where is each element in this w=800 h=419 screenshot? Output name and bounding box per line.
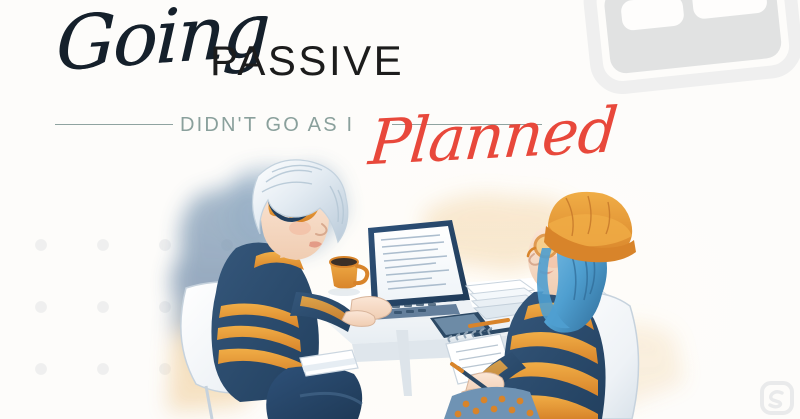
headline-main-word: PASSIVE <box>210 40 404 82</box>
legs-right-polkadot <box>444 387 540 419</box>
headline-subtitle: DIDN'T GO AS I <box>180 112 354 138</box>
divider-rule-left <box>55 124 173 125</box>
poster-canvas: Going PASSIVE DIDN'T GO AS I Planned <box>0 0 800 419</box>
bottom-right-logo-icon <box>760 381 794 415</box>
orange-beanie <box>544 192 636 262</box>
headline-accent-script-word: Planned <box>367 99 620 174</box>
